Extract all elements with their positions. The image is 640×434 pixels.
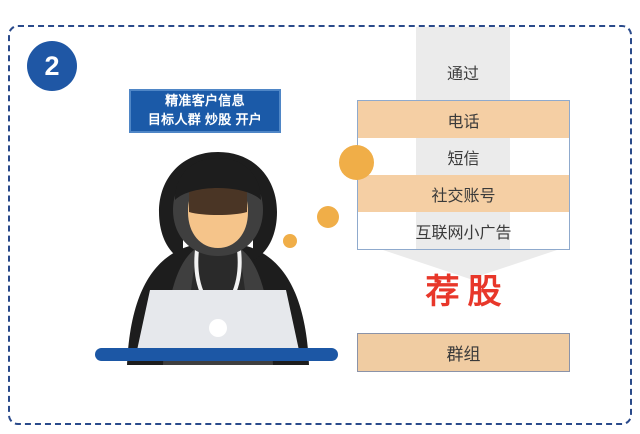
desk-bar	[95, 348, 338, 361]
channel-row: 电话	[358, 101, 569, 138]
channel-label: 短信	[447, 145, 479, 169]
channel-label: 社交账号	[431, 182, 495, 206]
orange-dot-large	[339, 145, 374, 180]
step-number-text: 2	[44, 53, 59, 80]
through-label: 通过	[416, 60, 510, 84]
group-label: 群组	[447, 340, 481, 365]
stock-recommendation-headline: 荐股	[357, 274, 570, 311]
channel-row: 社交账号	[358, 175, 569, 212]
info-label-line-2: 目标人群 炒股 开户	[148, 111, 262, 130]
channel-row: 互联网小广告	[358, 212, 569, 250]
group-box: 群组	[357, 333, 570, 372]
channel-label: 互联网小广告	[415, 219, 511, 243]
hacker-illustration	[93, 150, 343, 365]
laptop-logo-icon	[209, 319, 227, 337]
eye-mask-shape	[189, 186, 247, 215]
target-info-label: 精准客户信息 目标人群 炒股 开户	[129, 89, 281, 133]
channel-label: 电话	[447, 108, 479, 132]
channel-row: 短信	[358, 138, 569, 175]
hacker-svg	[93, 150, 343, 365]
channel-list-box: 电话 短信 社交账号 互联网小广告	[357, 100, 570, 250]
info-label-line-1: 精准客户信息	[165, 92, 245, 111]
step-number-badge: 2	[27, 41, 77, 91]
